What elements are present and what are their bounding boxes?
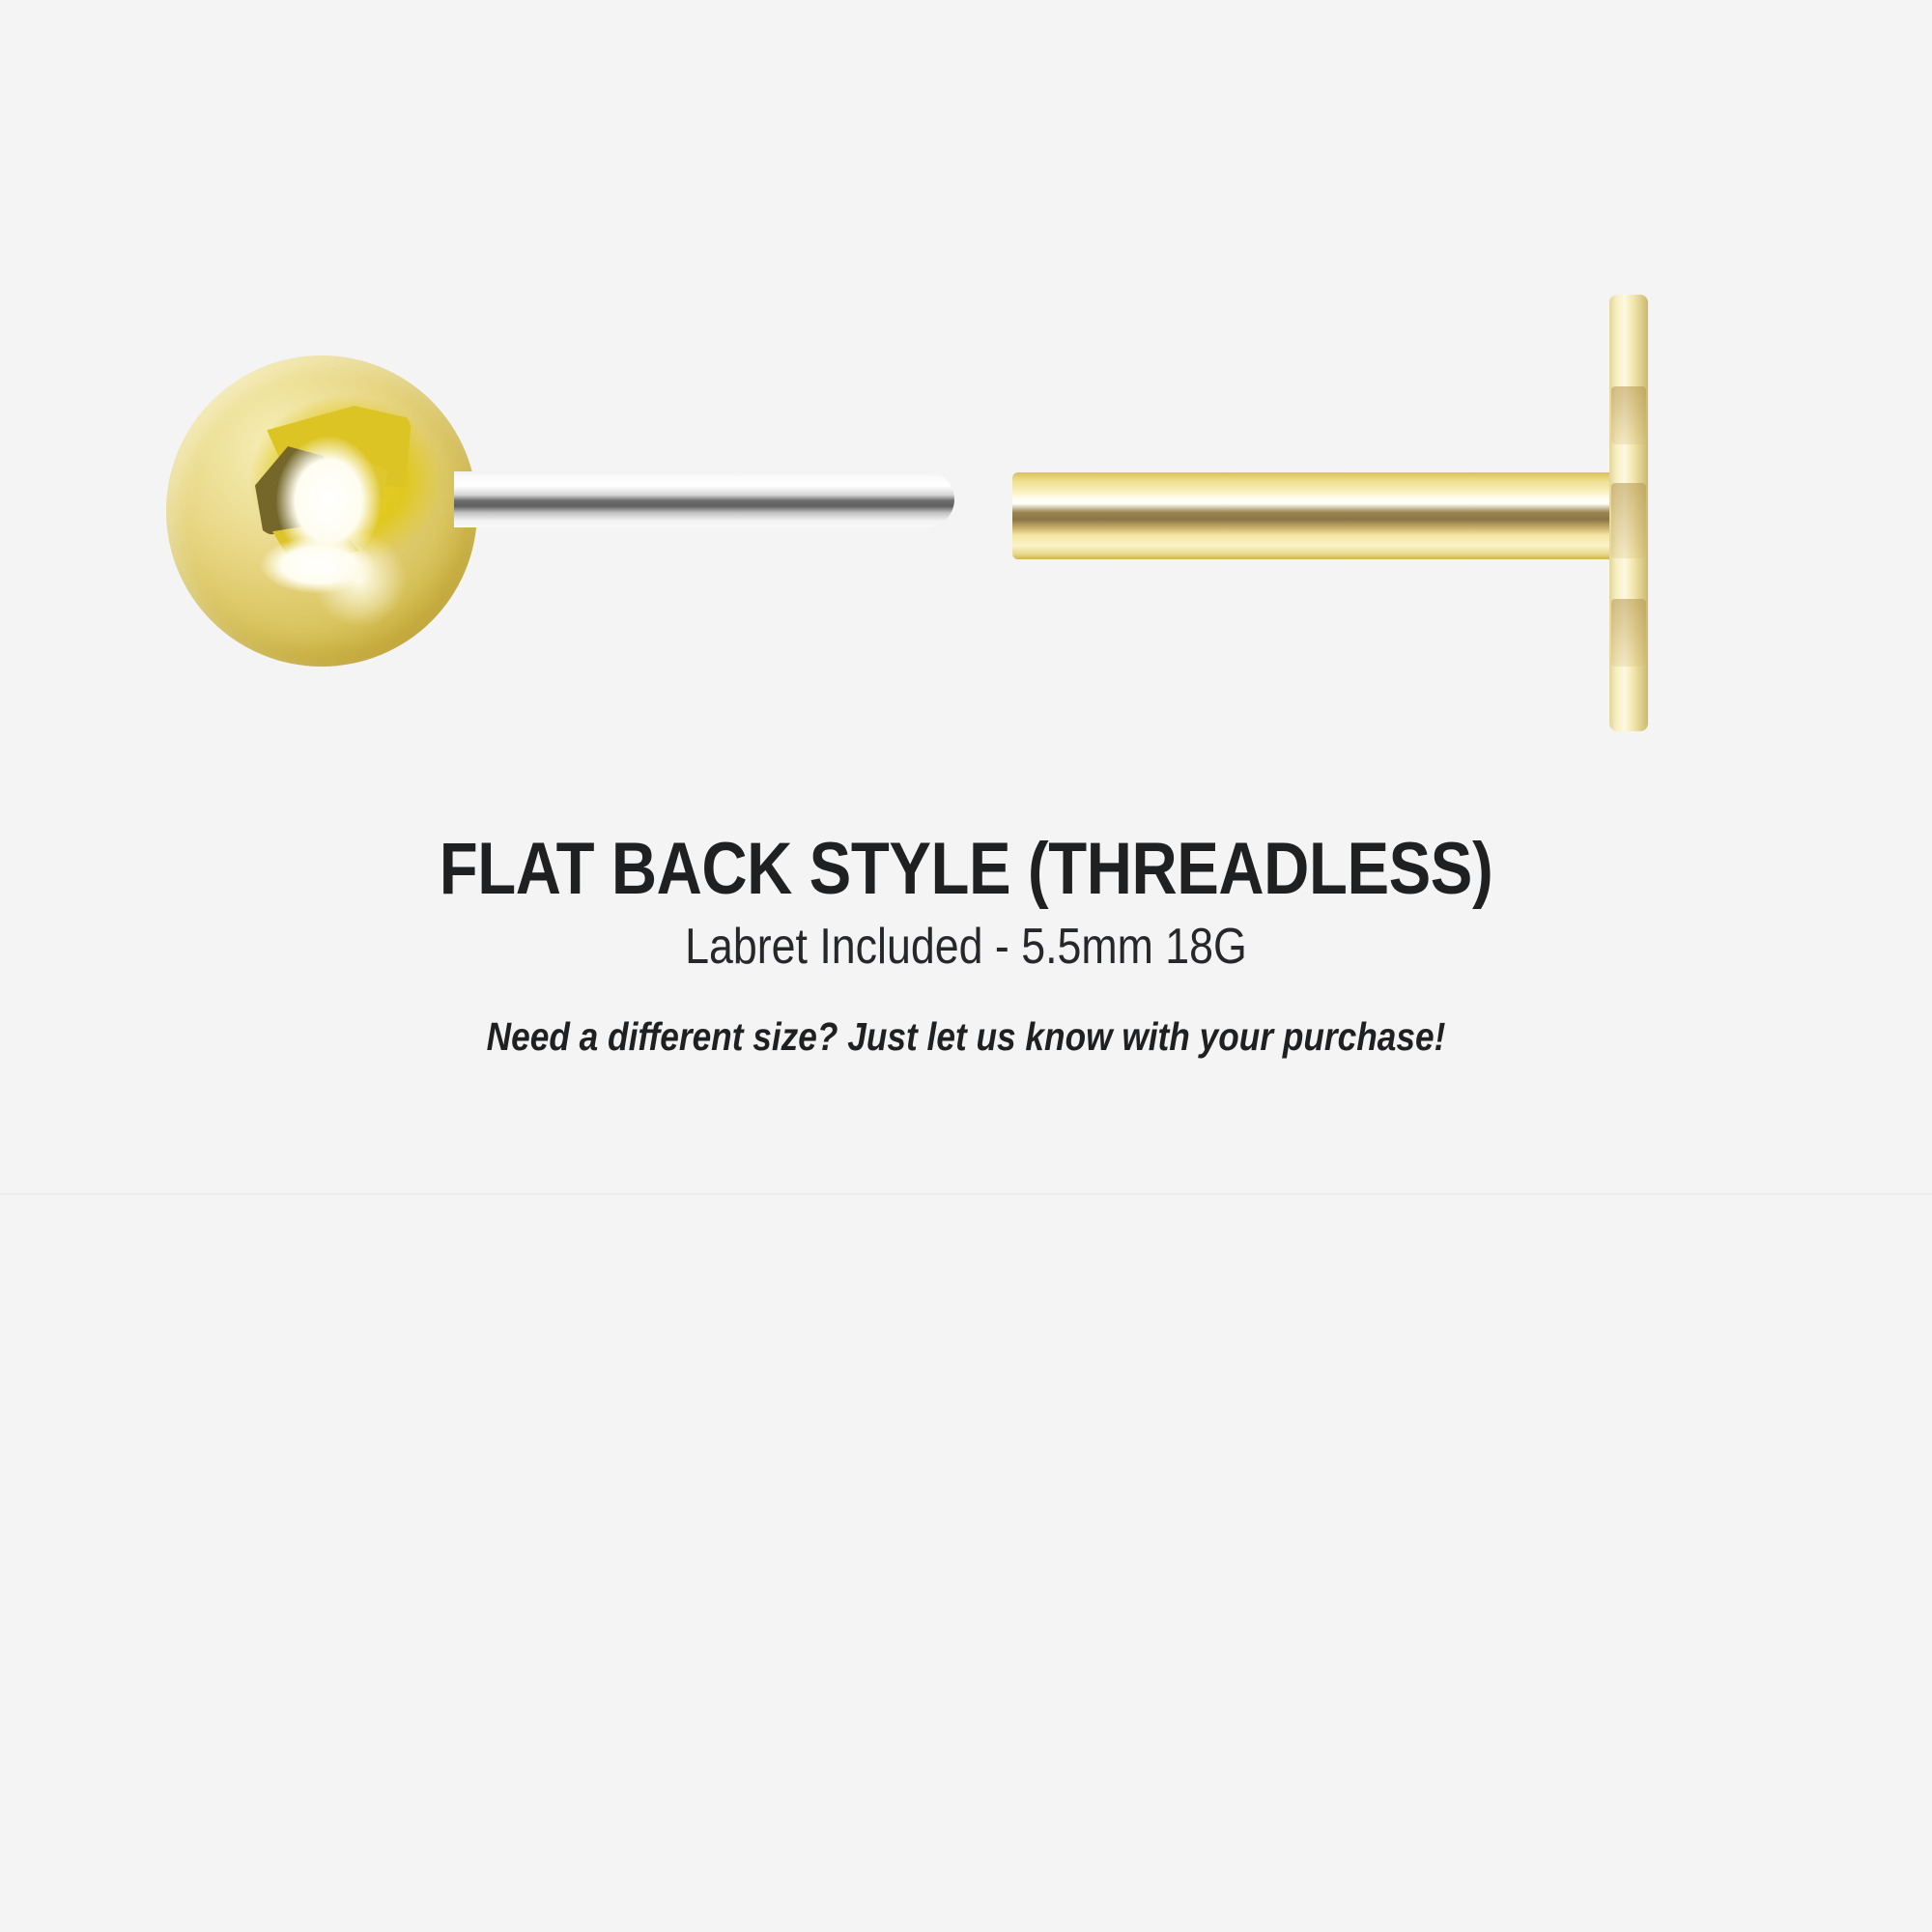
- section-subtitle-flat-back: Labret Included - 5.5mm 18G: [135, 918, 1797, 976]
- gold-ball-stud-top: [166, 355, 477, 667]
- section-note-flat-back: Need a different size? Just let us know …: [135, 1014, 1797, 1060]
- flat-back-section: FLAT BACK STYLE (THREADLESS) Labret Incl…: [0, 0, 1932, 1194]
- silver-threadless-pin: [454, 471, 954, 527]
- section-title-flat-back: FLAT BACK STYLE (THREADLESS): [135, 827, 1797, 911]
- gold-flat-disc-back: [1609, 295, 1648, 731]
- product-detail-image: FLAT BACK STYLE (THREADLESS) Labret Incl…: [0, 0, 1932, 1932]
- butterfly-back-section: TRADITIONAL BUTTERFLY BACK STYLE: [0, 1195, 1932, 1932]
- gold-labret-bar: [1012, 472, 1621, 559]
